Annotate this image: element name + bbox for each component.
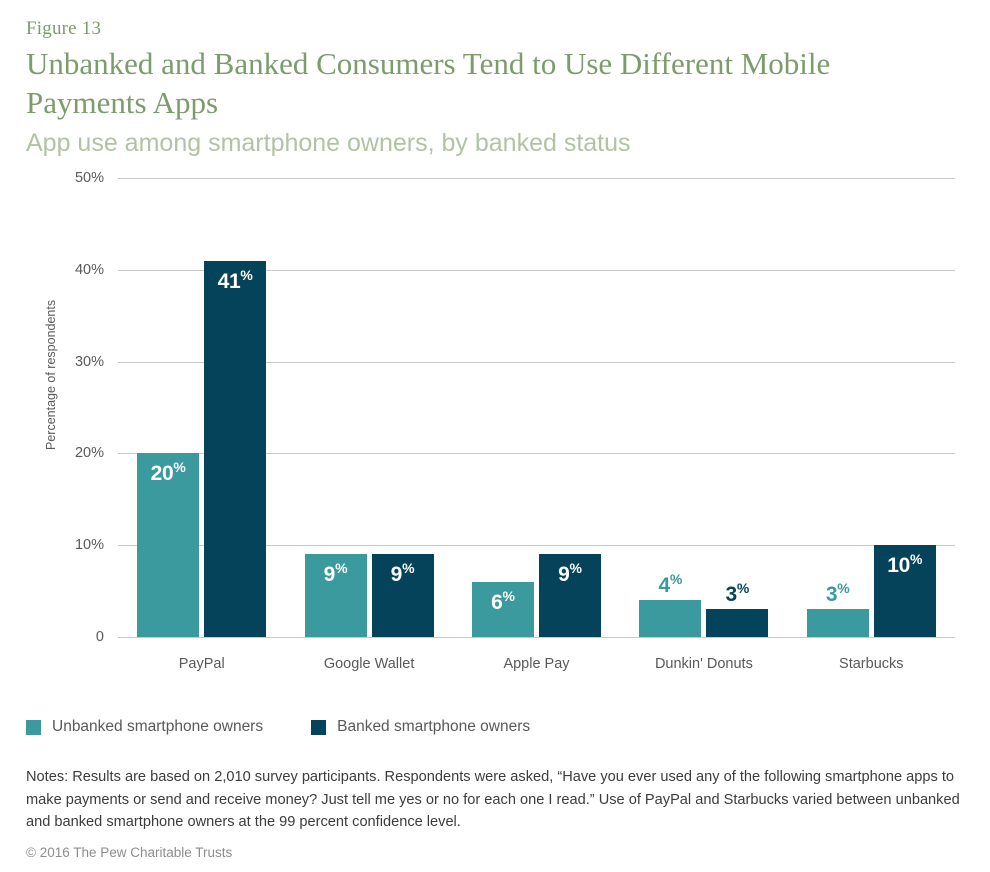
bar-value-label: 6% xyxy=(472,588,534,615)
bar-value-label: 9% xyxy=(372,560,434,587)
bar-rect xyxy=(639,600,701,637)
legend-label: Banked smartphone owners xyxy=(337,718,530,736)
page-title: Unbanked and Banked Consumers Tend to Us… xyxy=(26,45,926,123)
y-tick-label: 20% xyxy=(75,445,104,461)
bar-rect xyxy=(807,609,869,637)
plot-region: 010%20%30%40%50% 20%41%9%9%6%9%4%3%3%10% xyxy=(118,178,955,637)
bar[interactable]: 10% xyxy=(874,545,936,637)
figure-number: Figure 13 xyxy=(26,18,990,41)
bar-value-label: 3% xyxy=(706,580,768,607)
notes-text: Notes: Results are based on 2,010 survey… xyxy=(26,766,974,834)
bar-rect xyxy=(706,609,768,637)
x-axis-label: PayPal xyxy=(118,656,285,672)
bar-value-label: 4% xyxy=(639,571,701,598)
x-axis-label: Apple Pay xyxy=(453,656,620,672)
y-tick-label: 0 xyxy=(96,629,104,645)
bar-value-label: 3% xyxy=(807,580,869,607)
legend-item[interactable]: Unbanked smartphone owners xyxy=(26,718,263,736)
y-tick-label: 10% xyxy=(75,537,104,553)
bar[interactable]: 6% xyxy=(472,582,534,637)
bar-value-label: 9% xyxy=(539,560,601,587)
y-axis-title: Percentage of respondents xyxy=(44,300,58,450)
bar-value-label: 41% xyxy=(204,267,266,294)
x-axis-label: Starbucks xyxy=(788,656,955,672)
bar-group: 6%9% xyxy=(472,178,601,637)
y-tick-label: 40% xyxy=(75,262,104,278)
x-axis-label: Dunkin' Donuts xyxy=(620,656,787,672)
bar-group: 20%41% xyxy=(137,178,266,637)
bar-value-label: 20% xyxy=(137,459,199,486)
bar-rect xyxy=(204,261,266,637)
bar-value-label: 10% xyxy=(874,551,936,578)
y-tick-label: 50% xyxy=(75,170,104,186)
bar-group: 4%3% xyxy=(639,178,768,637)
bar-group: 3%10% xyxy=(807,178,936,637)
x-axis-label: Google Wallet xyxy=(285,656,452,672)
bar[interactable]: 9% xyxy=(305,554,367,637)
legend-label: Unbanked smartphone owners xyxy=(52,718,263,736)
legend-swatch-icon xyxy=(311,720,326,735)
bar-value-label: 9% xyxy=(305,560,367,587)
bar[interactable]: 9% xyxy=(539,554,601,637)
bar[interactable]: 3% xyxy=(807,609,869,637)
legend-item[interactable]: Banked smartphone owners xyxy=(311,718,530,736)
bar-series-container: 20%41%9%9%6%9%4%3%3%10% xyxy=(118,178,955,637)
gridline-0: 0 xyxy=(118,637,955,638)
bar[interactable]: 4% xyxy=(639,600,701,637)
x-axis-labels: PayPalGoogle WalletApple PayDunkin' Donu… xyxy=(118,656,955,686)
y-tick-label: 30% xyxy=(75,354,104,370)
chart-area: Percentage of respondents 010%20%30%40%5… xyxy=(0,150,990,710)
legend-swatch-icon xyxy=(26,720,41,735)
bar[interactable]: 41% xyxy=(204,261,266,637)
chart-legend: Unbanked smartphone ownersBanked smartph… xyxy=(26,718,578,736)
bar[interactable]: 9% xyxy=(372,554,434,637)
bar[interactable]: 20% xyxy=(137,453,199,637)
bar[interactable]: 3% xyxy=(706,609,768,637)
copyright-credit: © 2016 The Pew Charitable Trusts xyxy=(26,845,232,860)
figure-header: Figure 13 Unbanked and Banked Consumers … xyxy=(0,0,990,160)
bar-group: 9%9% xyxy=(305,178,434,637)
